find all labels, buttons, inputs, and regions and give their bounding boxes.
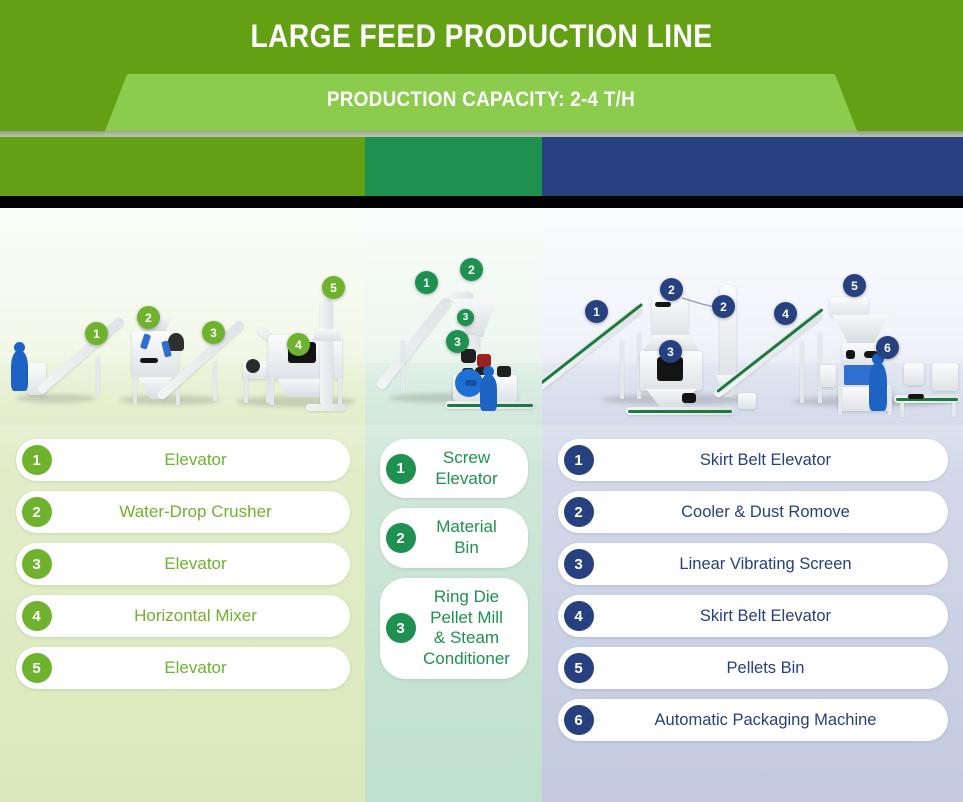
stage-columns: 1 2 3 4 5 1 Elevator 2 Water-Drop Crushe… — [0, 208, 963, 802]
item-label: Automatic Packaging Machine — [558, 701, 948, 739]
illustration-pin-4: 4 — [287, 333, 310, 356]
support-leg — [270, 377, 274, 405]
illustration-pin-1: 1 — [85, 322, 108, 345]
stage-1-equipment-list: 1 Elevator 2 Water-Drop Crusher 3 Elevat… — [0, 425, 365, 689]
stage-3-equipment-list: 1 Skirt Belt Elevator 2 Cooler & Dust Ro… — [542, 425, 963, 741]
item-number-badge: 2 — [564, 497, 594, 527]
illustration-pin-1: 1 — [585, 300, 608, 323]
header-banner: LARGE FEED PRODUCTION LINE PRODUCTION CA… — [0, 0, 963, 196]
support-leg — [338, 377, 342, 405]
item-label: Skirt Belt Elevator — [558, 441, 948, 479]
illustration-pin-1: 1 — [415, 271, 438, 294]
illustration-pin-3: 3 — [659, 340, 682, 363]
support-leg — [401, 341, 405, 393]
item-number-badge: 4 — [22, 601, 52, 631]
list-item[interactable]: 4 Horizontal Mixer — [16, 595, 350, 637]
electrical-cabinet — [820, 365, 836, 387]
item-label: Skirt Belt Elevator — [558, 597, 948, 635]
illustration-pin-6: 6 — [876, 336, 899, 359]
color-band-green — [0, 137, 365, 196]
support-leg — [838, 385, 842, 415]
item-label: Cooler & Dust Romove — [558, 493, 948, 531]
color-band-teal — [365, 137, 542, 196]
item-number-badge: 6 — [564, 705, 594, 735]
black-separator-strip — [0, 196, 963, 208]
sewing-motor — [908, 394, 924, 399]
feed-production-line-infographic: LARGE FEED PRODUCTION LINE PRODUCTION CA… — [0, 0, 963, 802]
item-number-badge: 5 — [22, 653, 52, 683]
control-port — [846, 350, 855, 359]
item-label: Water-Drop Crusher — [16, 493, 350, 532]
elevator-head-4 — [830, 297, 868, 317]
mixer-motor — [246, 359, 260, 373]
worker-figure — [11, 351, 28, 391]
screen-drive-motor — [682, 393, 696, 403]
illustration-pin-5: 5 — [322, 276, 345, 299]
color-band-navy — [542, 137, 963, 196]
list-item[interactable]: 2 Water-Drop Crusher — [16, 491, 350, 533]
illustration-pin-4: 4 — [774, 302, 797, 325]
pellet-mill-handle — [465, 380, 477, 386]
list-item[interactable]: 2 Cooler & Dust Romove — [558, 491, 948, 533]
support-leg — [620, 341, 624, 399]
support-leg — [952, 401, 956, 417]
cooler-inlet-port — [655, 302, 671, 307]
illustration-pin-3a: 3 — [457, 309, 474, 326]
pelleting-line-illustration: 1 2 3 3 — [365, 208, 542, 425]
worker-figure — [869, 363, 887, 411]
machine-shadow — [16, 394, 96, 403]
elevator-top-outlet — [312, 329, 342, 341]
item-number-badge: 2 — [22, 497, 52, 527]
sewing-machine-frame — [932, 363, 958, 391]
item-number-badge: 1 — [564, 445, 594, 475]
item-label: Elevator — [16, 649, 350, 688]
list-item[interactable]: 1 Elevator — [16, 439, 350, 481]
sewing-machine-head — [904, 363, 924, 385]
item-number-badge: 3 — [564, 549, 594, 579]
list-item[interactable]: 6 Automatic Packaging Machine — [558, 699, 948, 741]
support-leg — [96, 357, 100, 395]
conveyor-belt — [896, 398, 958, 401]
crusher-control-panel — [140, 358, 158, 363]
grinding-and-mixing-line-illustration: 1 2 3 4 5 — [0, 208, 365, 425]
capacity-text: PRODUCTION CAPACITY: 2-4 T/H — [141, 88, 821, 112]
list-item[interactable]: 1 Skirt Belt Elevator — [558, 439, 948, 481]
support-leg — [900, 401, 904, 417]
item-label: Horizontal Mixer — [16, 597, 350, 636]
list-item[interactable]: 1 Screw Elevator — [380, 439, 528, 498]
support-leg — [244, 377, 248, 403]
worker-figure — [480, 375, 497, 411]
illustration-pin-5: 5 — [843, 274, 866, 297]
elevator-base — [306, 404, 346, 411]
list-item[interactable]: 4 Skirt Belt Elevator — [558, 595, 948, 637]
illustration-pin-2: 2 — [460, 258, 483, 281]
item-number-badge: 5 — [564, 653, 594, 683]
item-number-badge: 1 — [386, 454, 416, 484]
dust-remover-fan — [738, 393, 756, 409]
item-label: Pellets Bin — [558, 649, 948, 687]
illustration-pin-2a: 2 — [660, 278, 683, 301]
support-leg — [213, 361, 217, 401]
support-leg — [133, 375, 137, 405]
conveyor-belt — [628, 410, 732, 413]
item-number-badge: 1 — [22, 445, 52, 475]
stage-column-cooling-packaging: 1 2 2 3 4 5 6 1 Skirt Belt Elevator 2 Co… — [542, 208, 963, 802]
illustration-pin-2: 2 — [137, 306, 160, 329]
list-item[interactable]: 3 Ring Die Pellet Mill & Steam Condition… — [380, 578, 528, 679]
support-leg — [888, 385, 892, 415]
list-item[interactable]: 3 Linear Vibrating Screen — [558, 543, 948, 585]
item-number-badge: 3 — [22, 549, 52, 579]
item-number-badge: 3 — [386, 613, 416, 643]
support-leg — [800, 341, 804, 403]
illustration-pin-3b: 3 — [446, 330, 469, 353]
list-item[interactable]: 5 Pellets Bin — [558, 647, 948, 689]
page-title: LARGE FEED PRODUCTION LINE — [58, 18, 905, 55]
item-number-badge: 4 — [564, 601, 594, 631]
list-item[interactable]: 5 Elevator — [16, 647, 350, 689]
item-label: Elevator — [16, 545, 350, 584]
illustration-pin-3: 3 — [202, 321, 225, 344]
capacity-banner: PRODUCTION CAPACITY: 2-4 T/H — [103, 74, 859, 136]
pellet-mill-motor — [497, 366, 511, 377]
item-label: Elevator — [16, 441, 350, 480]
item-number-badge: 2 — [386, 523, 416, 553]
stage-column-grinding-mixing: 1 2 3 4 5 1 Elevator 2 Water-Drop Crushe… — [0, 208, 365, 802]
list-item[interactable]: 2 Material Bin — [380, 508, 528, 567]
cooling-and-packaging-line-illustration: 1 2 2 3 4 5 6 — [542, 208, 963, 425]
illustration-pin-2b: 2 — [712, 295, 735, 318]
item-label: Linear Vibrating Screen — [558, 545, 948, 583]
list-item[interactable]: 3 Elevator — [16, 543, 350, 585]
crusher-motor — [168, 333, 184, 351]
stage-column-pelleting: 1 2 3 3 1 Screw Elevator 2 Material Bin … — [365, 208, 542, 802]
stage-2-equipment-list: 1 Screw Elevator 2 Material Bin 3 Ring D… — [365, 425, 542, 679]
bucket-elevator-5 — [320, 299, 333, 407]
